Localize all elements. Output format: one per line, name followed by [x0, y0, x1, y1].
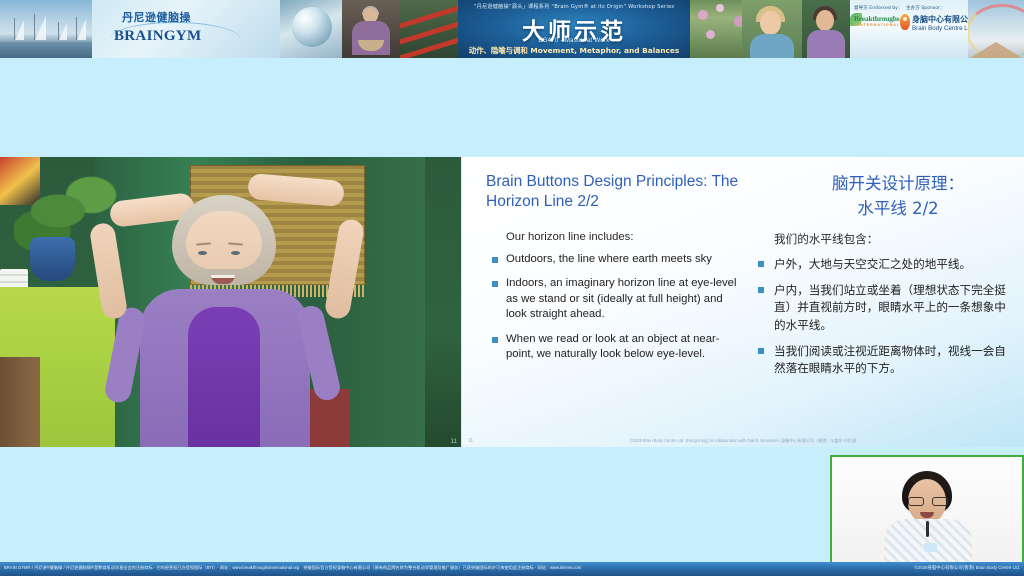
- lapel-mic-icon: [926, 521, 929, 537]
- presenter-shirt: [188, 307, 260, 447]
- main-video-page-number: 11: [451, 439, 457, 445]
- banner-subtitle: 动作、隐喻与调和 Movement, Metaphor, and Balance…: [469, 46, 680, 55]
- slide-title-english: Brain Buttons Design Principles: The Hor…: [486, 172, 786, 212]
- slide-bullet-cn-1-text: 户外，大地与天空交汇之处的地平线。: [774, 257, 971, 271]
- banner-sponsor-block: 督导方 Endorsed by： 主办方 Sponsor： Breakthrou…: [850, 0, 968, 58]
- bottom-legal-ticker: BRAIN GYM® / 丹尼逊®健脑操 / 丹尼逊健脑操®是教育肌动学基金会的…: [0, 562, 1024, 576]
- slide-title-chinese: 脑开关设计原理： 水平线 2/2: [780, 171, 1016, 221]
- slide-title-chinese-line1: 脑开关设计原理：: [780, 171, 1016, 196]
- slide-bullet-en-3-text: When we read or look at an object at nea…: [506, 333, 720, 360]
- participant-video-tile[interactable]: [830, 455, 1024, 565]
- slide-copyright-footer: ©2025 Brain Body Centre Ltd. (Hong Kong)…: [462, 438, 1024, 444]
- slide-lead-chinese: 我们的水平线包含：: [774, 231, 1010, 247]
- meeting-screen: 丹尼逊健脑操 BRAINGYM “丹尼逊健脑操”源头」课程系列 “Brain G…: [0, 0, 1024, 576]
- slide-title-chinese-line2: 水平线 2/2: [780, 196, 1016, 221]
- brand-cn-label: 丹尼逊健脑操: [122, 11, 191, 24]
- brain-body-centre-icon: [900, 14, 910, 30]
- plant-pot: [30, 237, 75, 281]
- slide-bullet-en-2: Indoors, an imaginary horizon line at ey…: [492, 276, 742, 322]
- bullet-square-icon: [492, 337, 498, 343]
- participant-badge: [924, 543, 937, 552]
- banner-series-line: “丹尼逊健脑操”源头」课程系列 “Brain Gym® at its Origi…: [474, 4, 675, 10]
- slide-bullet-en-3: When we read or look at an object at nea…: [492, 332, 742, 363]
- brain-gym-logo: 丹尼逊健脑操 BRAINGYM: [92, 0, 280, 58]
- banner-bridge-image: [400, 0, 458, 58]
- main-presenter-video[interactable]: 11: [0, 157, 461, 447]
- endorser-sub-label: INTERNATIONAL: [858, 23, 900, 27]
- banner-portrait-one: [742, 0, 802, 58]
- participant-video-feed: [832, 457, 1022, 563]
- slide-bullet-cn-1: 户外，大地与天空交汇之处的地平线。: [758, 256, 1010, 273]
- course-banner: 丹尼逊健脑操 BRAINGYM “丹尼逊健脑操”源头」课程系列 “Brain G…: [0, 0, 1024, 58]
- slide-bullet-cn-2-text: 户内，当我们站立或坐着（理想状态下完全挺直）并直视前方时，眼睛水平上的一条想象中…: [774, 283, 1006, 331]
- ticker-right-text: ©2025身脑中心有限公司(香港) Brain Body Centre Ltd.: [915, 565, 1020, 571]
- brand-en-label: BRAINGYM: [114, 28, 201, 44]
- slide-column-chinese: 我们的水平线包含： 户外，大地与天空交汇之处的地平线。 户内，当我们站立或坐着（…: [758, 231, 1010, 386]
- bullet-square-icon: [758, 287, 764, 293]
- slide-bullet-en-1: Outdoors, the line where earth meets sky: [492, 252, 742, 267]
- bullet-square-icon: [758, 261, 764, 267]
- banner-rainbow-image: [968, 0, 1024, 58]
- bullet-square-icon: [758, 348, 764, 354]
- slide-column-english: Our horizon line includes: Outdoors, the…: [492, 231, 742, 371]
- ticker-left-text: BRAIN GYM® / 丹尼逊®健脑操 / 丹尼逊健脑操®是教育肌动学基金会的…: [4, 565, 581, 571]
- banner-title-block: “丹尼逊健脑操”源头」课程系列 “Brain Gym® at its Origi…: [458, 0, 690, 58]
- slide-bullet-en-1-text: Outdoors, the line where earth meets sky: [506, 253, 712, 265]
- sponsor-name-cn: 身脑中心有限公司 ®: [912, 15, 968, 24]
- slide-bullet-cn-3-text: 当我们阅读或注视近距离物体时，视线一会自然落在眼睛水平的下方。: [774, 344, 1006, 375]
- slide-bullet-cn-2: 户内，当我们站立或坐着（理想状态下完全挺直）并直视前方时，眼睛水平上的一条想象中…: [758, 282, 1010, 334]
- bullet-square-icon: [492, 281, 498, 287]
- presentation-slide[interactable]: Brain Buttons Design Principles: The Hor…: [462, 157, 1024, 447]
- sponsor-name-en: Brain Body Centre Ltd.: [912, 25, 968, 32]
- banner-person-bowl-image: [342, 0, 400, 58]
- banner-course-code: BG470 - Master at Work: [538, 38, 609, 44]
- banner-harbor-image: [0, 0, 92, 58]
- slide-bullet-cn-3: 当我们阅读或注视近距离物体时，视线一会自然落在眼睛水平的下方。: [758, 343, 1010, 377]
- banner-orb-image: [280, 0, 342, 58]
- banner-portrait-two: [802, 0, 850, 58]
- wooden-post: [0, 357, 40, 447]
- endorser-name: Breakthroughs: [854, 14, 899, 23]
- slide-bullet-en-2-text: Indoors, an imaginary horizon line at ey…: [506, 277, 736, 320]
- endorsed-by-label: 督导方 Endorsed by：: [854, 6, 903, 11]
- sponsor-label: 主办方 Sponsor：: [906, 6, 944, 11]
- presenter-hair: [172, 195, 276, 285]
- bullet-square-icon: [492, 257, 498, 263]
- slide-lead-english: Our horizon line includes:: [506, 231, 742, 243]
